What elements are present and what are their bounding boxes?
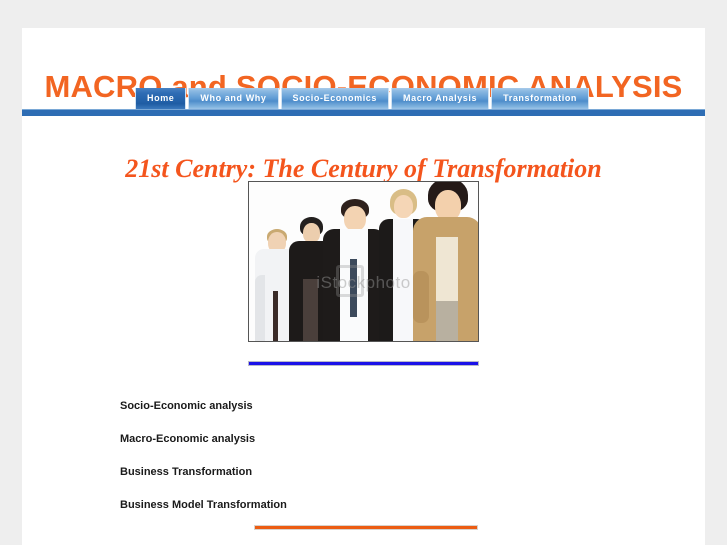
photo-person-3 (323, 199, 385, 341)
hero-image-frame: iStockphoto (248, 181, 479, 342)
nav-item-who-and-why[interactable]: Who and Why (188, 88, 278, 109)
nav-item-macro-analysis[interactable]: Macro Analysis (391, 88, 489, 109)
hero-photo: iStockphoto (249, 182, 478, 341)
topic-list: Socio-Economic analysis Macro-Economic a… (120, 400, 287, 532)
orange-divider (254, 525, 478, 530)
content-sheet: MACRO and SOCIO-ECONOMIC ANALYSIS Home W… (22, 28, 705, 545)
photo-person-5 (409, 181, 479, 341)
nav-underline-bar (22, 109, 705, 116)
nav-item-socio-economics[interactable]: Socio-Economics (281, 88, 390, 109)
list-item[interactable]: Socio-Economic analysis (120, 400, 287, 433)
page-headline: 21st Centry: The Century of Transformati… (22, 154, 705, 184)
nav-item-home[interactable]: Home (135, 88, 186, 109)
blue-divider (248, 361, 479, 366)
nav-list: Home Who and Why Socio-Economics Macro A… (135, 88, 589, 109)
list-item[interactable]: Business Transformation (120, 466, 287, 499)
page-root: MACRO and SOCIO-ECONOMIC ANALYSIS Home W… (0, 0, 727, 545)
list-item[interactable]: Macro-Economic analysis (120, 433, 287, 466)
nav-item-transformation[interactable]: Transformation (491, 88, 589, 109)
